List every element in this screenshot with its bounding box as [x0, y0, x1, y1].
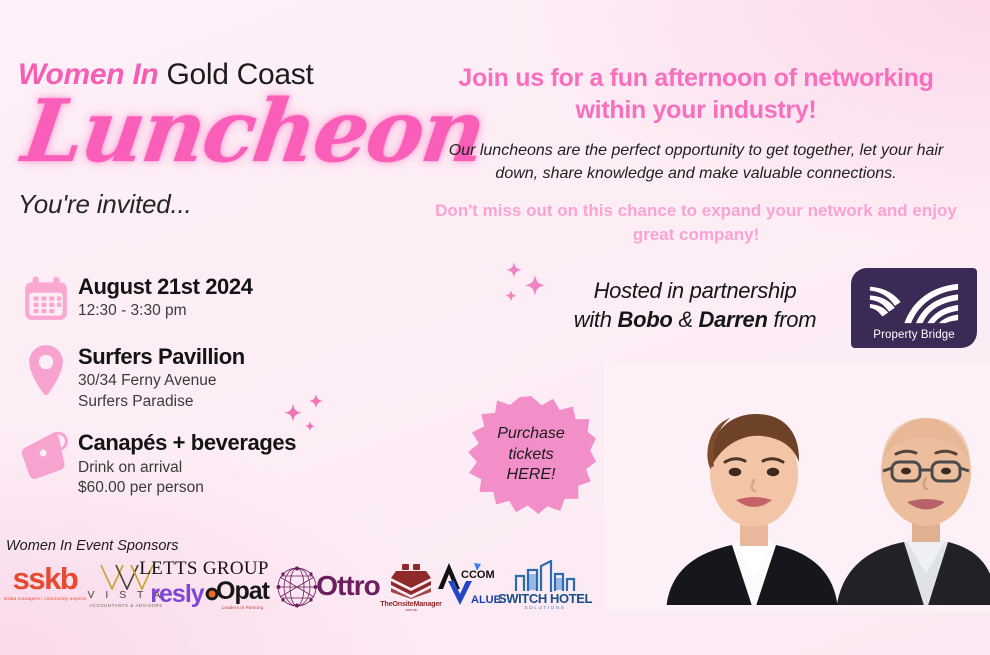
sponsor-letts-text: LETTS GROUP [139, 559, 268, 578]
sponsor-onsitemanager-tagline: .com.au [405, 608, 418, 612]
promo-headline: Join us for a fun afternoon of networkin… [420, 62, 972, 126]
sponsors-label: Women In Event Sponsors [6, 538, 178, 554]
cta-line-3: HERE! [507, 465, 556, 486]
sponsor-ottro-text: Ottro [316, 572, 379, 600]
flyer-header: Women In Gold Coast Luncheon You're invi… [18, 58, 418, 220]
property-bridge-logo: Property Bridge [851, 268, 977, 348]
partnership-line-1: Hosted in partnership [594, 278, 797, 303]
page-title: Luncheon [18, 89, 424, 175]
hosts-portrait-illustration [604, 362, 990, 612]
venue-address-1: 30/34 Ferny Avenue [78, 371, 245, 391]
promo-block: Join us for a fun afternoon of networkin… [420, 62, 972, 246]
invitation-line: You're invited... [18, 189, 418, 220]
event-details: August 21st 2024 12:30 - 3:30 pm Surfers… [14, 272, 414, 516]
detail-text-date: August 21st 2024 12:30 - 3:30 pm [78, 272, 253, 322]
detail-row-catering: Canapés + beverages Drink on arrival $60… [14, 428, 414, 498]
sponsor-logo-accom-valuers: CCOM ALUERS [434, 558, 502, 610]
hosts-photo [604, 362, 990, 612]
switch-hotel-mark-icon [510, 560, 580, 592]
detail-text-venue: Surfers Pavillion 30/34 Ferny Avenue Sur… [78, 342, 245, 412]
sponsors-row: sskb strata managers | community experts… [0, 556, 600, 612]
catering-title: Canapés + beverages [78, 430, 296, 455]
property-bridge-name: Property Bridge [873, 329, 954, 341]
purchase-tickets-button[interactable]: Purchase tickets HERE! [466, 396, 596, 514]
venue-name: Surfers Pavillion [78, 344, 245, 369]
partnership-from: from [773, 307, 816, 332]
onsite-manager-mark-icon [388, 563, 434, 599]
sponsor-logo-letts-group: LETTS GROUP [142, 558, 266, 578]
purchase-tickets-label: Purchase tickets HERE! [466, 396, 596, 514]
ticket-price: $60.00 per person [78, 478, 296, 498]
cta-line-1: Purchase [497, 424, 565, 445]
svg-text:CCOM: CCOM [461, 569, 495, 581]
sponsor-resly-text: resly [150, 582, 203, 607]
price-tag-icon [14, 428, 78, 486]
promo-body: Our luncheons are the perfect opportunit… [420, 140, 972, 185]
partnership-with: with [574, 307, 612, 332]
host-name-2: Darren [699, 307, 768, 332]
sponsor-sskb-text: sskb [13, 563, 78, 594]
calendar-icon [14, 272, 78, 324]
detail-row-venue: Surfers Pavillion 30/34 Ferny Avenue Sur… [14, 342, 414, 412]
partnership-text: Hosted in partnership with Bobo & Darren… [545, 276, 845, 335]
location-pin-icon [14, 342, 78, 398]
promo-callout: Don't miss out on this chance to expand … [420, 199, 972, 245]
event-flyer: Women In Gold Coast Luncheon You're invi… [0, 0, 990, 655]
sponsor-switchhotel-text: SWITCH HOTEL [498, 592, 592, 605]
sponsor-logo-switch-hotel: SWITCH HOTEL SOLUTIONS [504, 556, 586, 610]
detail-row-date: August 21st 2024 12:30 - 3:30 pm [14, 272, 414, 324]
sparkle-cluster-left-icon [276, 390, 336, 442]
accom-valuers-mark-icon: CCOM ALUERS [434, 559, 502, 609]
host-name-1: Bobo [617, 307, 672, 332]
sponsor-logo-ottro: Ottro [310, 570, 386, 602]
partnership-amp: & [678, 307, 692, 332]
sponsor-opat-text: Opat [216, 579, 269, 604]
detail-text-catering: Canapés + beverages Drink on arrival $60… [78, 428, 296, 498]
cta-line-2: tickets [508, 445, 553, 466]
property-bridge-mark-icon [866, 281, 962, 327]
sponsor-onsitemanager-text: TheOnsiteManager [380, 599, 442, 608]
sponsor-logo-resly: resly [146, 580, 208, 608]
sponsor-logo-sskb: sskb strata managers | community experts [2, 558, 88, 606]
catering-note: Drink on arrival [78, 458, 296, 478]
sponsor-opat-tagline: Leaders in Painting [222, 605, 263, 610]
event-date: August 21st 2024 [78, 274, 253, 299]
sponsor-switchhotel-tagline: SOLUTIONS [525, 605, 566, 610]
venue-address-2: Surfers Paradise [78, 392, 245, 412]
event-time: 12:30 - 3:30 pm [78, 301, 253, 321]
sponsor-sskb-tagline: strata managers | community experts [4, 596, 87, 601]
sponsor-logo-opat: Opat Leaders in Painting [205, 578, 269, 610]
